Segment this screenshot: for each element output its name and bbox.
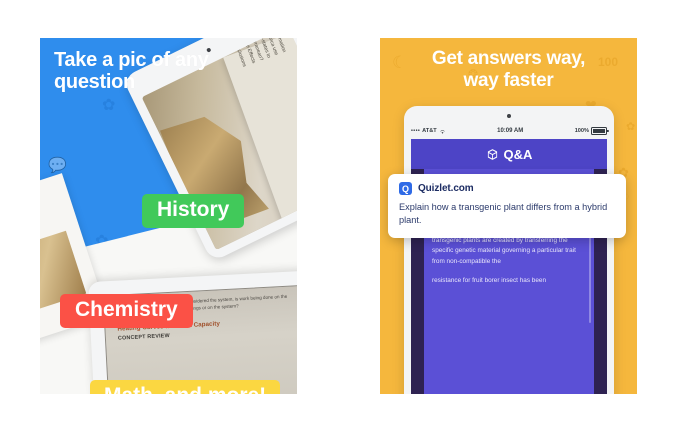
result-card-header: Q Quizlet.com xyxy=(399,182,615,195)
carrier-label: AT&T xyxy=(422,128,437,134)
status-bar-left: •••• AT&T xyxy=(411,128,446,135)
battery-percent-label: 100% xyxy=(575,128,589,134)
right-headline: Get answers way, way faster xyxy=(380,48,637,92)
result-site-name: Quizlet.com xyxy=(418,183,474,194)
status-bar: •••• AT&T 10:09 AM 100% xyxy=(411,125,607,137)
promo-screenshot: ✿ ✎ 💬 ✿ ❀ ✿ ❂ ◌ Thinking Critically 1. S… xyxy=(0,0,673,433)
right-headline-line2: way faster xyxy=(464,70,554,91)
search-result-card[interactable]: Q Quizlet.com Explain how a transgenic p… xyxy=(388,174,626,238)
answer-paragraph: resistance for fruit borer insect has be… xyxy=(432,276,586,286)
result-question-text: Explain how a transgenic plant differs f… xyxy=(399,201,615,228)
subject-badge-math: Math, and more! xyxy=(90,380,280,394)
chat-doodle-icon: 💬 xyxy=(48,158,67,173)
device-camera-icon xyxy=(507,114,511,118)
status-bar-right: 100% xyxy=(575,127,607,135)
worksheet-subheading: CONCEPT REVIEW xyxy=(118,333,170,342)
app-navbar: Q&A xyxy=(411,139,607,169)
wifi-icon xyxy=(439,128,446,135)
device-mockup: •••• AT&T 10:09 AM 100% xyxy=(404,106,614,394)
tablet-photo-chemistry: If the contents of the flask are conside… xyxy=(88,270,297,394)
status-bar-time: 10:09 AM xyxy=(446,128,575,134)
quizlet-favicon-icon: Q xyxy=(399,182,412,195)
droplet-doodle-icon: ✿ xyxy=(102,98,115,114)
signal-dots-icon: •••• xyxy=(411,128,420,134)
app-navbar-title: Q&A xyxy=(504,147,533,162)
subject-badge-history: History xyxy=(142,194,244,228)
left-headline: Take a pic of any question xyxy=(54,49,259,94)
right-promo-panel: ☾ ❤ 100 ❀ ❂ ✿ ◌ ✿ •••• AT&T 10:09 xyxy=(380,38,637,394)
subject-badge-chemistry: Chemistry xyxy=(60,294,193,328)
battery-icon xyxy=(591,127,607,135)
dot-doodle-icon: ✿ xyxy=(626,122,635,133)
right-headline-line1: Get answers way, xyxy=(432,48,585,69)
quizlet-logo-icon xyxy=(486,148,499,161)
left-promo-panel: ✿ ✎ 💬 ✿ ❀ ✿ ❂ ◌ Thinking Critically 1. S… xyxy=(40,38,297,394)
